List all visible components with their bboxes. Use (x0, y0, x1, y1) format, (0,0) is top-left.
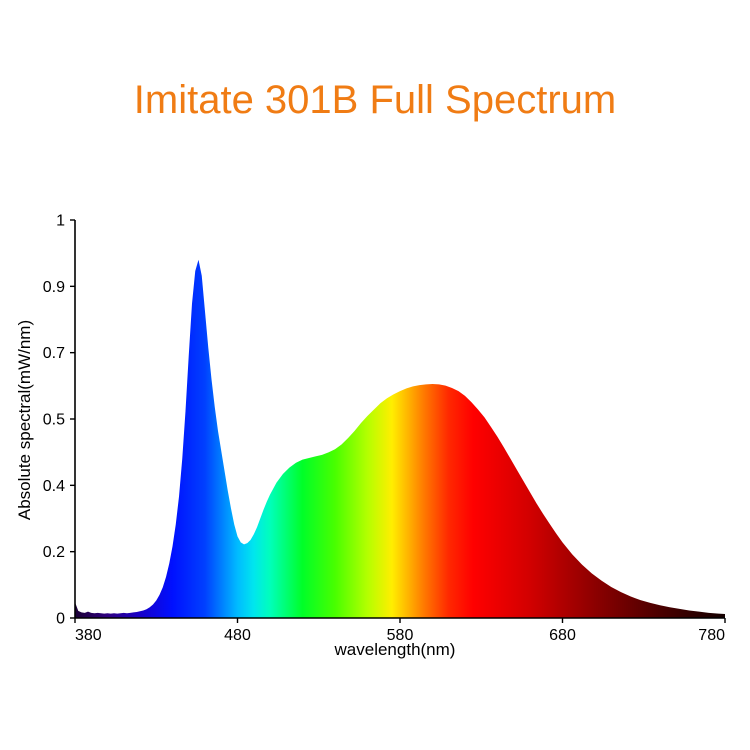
x-tick-label: 480 (224, 627, 251, 644)
spectrum-plot: 00.20.40.50.70.91 380480580680780 wavele… (0, 0, 750, 750)
y-tick-label: 1 (56, 213, 65, 230)
y-tick-label: 0.4 (43, 478, 65, 495)
x-tick-label: 680 (549, 627, 576, 644)
spectrum-chart-figure: Imitate 301B Full Spectrum (0, 0, 750, 750)
y-axis-title: Absolute spectral(mW/nm) (15, 320, 34, 520)
y-tick-label: 0 (56, 611, 65, 628)
x-tick-label: 380 (75, 627, 102, 644)
y-axis-ticks: 00.20.40.50.70.91 (43, 213, 75, 628)
y-tick-label: 0.5 (43, 412, 65, 429)
y-tick-label: 0.7 (43, 345, 65, 362)
x-axis-title: wavelength(nm) (334, 640, 456, 659)
x-tick-label: 780 (698, 627, 725, 644)
y-tick-label: 0.2 (43, 544, 65, 561)
spectrum-area-fill (75, 220, 725, 618)
y-tick-label: 0.9 (43, 279, 65, 296)
